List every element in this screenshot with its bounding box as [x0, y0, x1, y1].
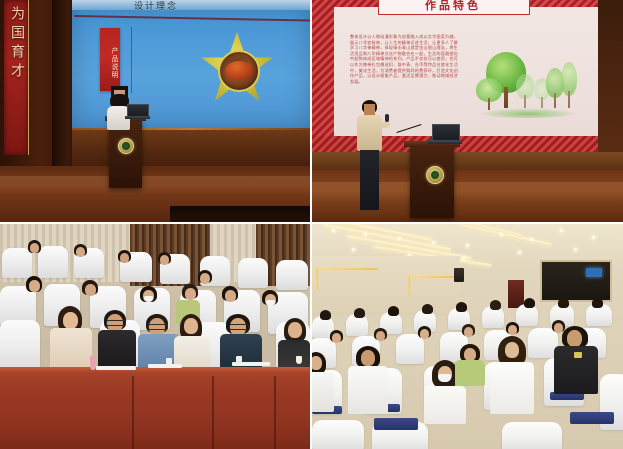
seat — [2, 248, 32, 278]
audience-head — [225, 290, 236, 302]
downlight — [398, 237, 401, 240]
tree-trunk — [568, 91, 569, 108]
seat-foreground — [312, 420, 364, 449]
audience-head — [85, 284, 96, 296]
watercolor-trees-illustration — [472, 48, 582, 126]
audience-hair — [490, 300, 501, 310]
collage-gutter-horizontal — [0, 222, 623, 224]
downlight — [560, 229, 563, 232]
face-mask-icon — [438, 374, 451, 382]
podium-emblem-icon — [118, 138, 134, 154]
foreground-shadow-bar — [170, 206, 310, 222]
tree-trunk — [554, 93, 555, 108]
glasses-icon — [229, 324, 249, 330]
projection-booth-window — [540, 260, 612, 302]
audience-head — [160, 255, 169, 265]
seat-cushion — [374, 418, 418, 430]
tree-trunk — [504, 87, 507, 108]
wall-accent-light — [408, 276, 458, 278]
audience-head — [376, 331, 385, 341]
audience-hair — [524, 298, 535, 308]
downlight — [332, 229, 335, 232]
presenter-torso — [357, 115, 382, 151]
downlight — [432, 241, 435, 244]
wall-accent-light — [408, 276, 410, 296]
paper-cup — [166, 358, 172, 366]
student-head — [361, 350, 375, 366]
slide-side-tag-text: 产品说明 — [100, 28, 120, 91]
audience-head — [464, 327, 473, 337]
downlight — [352, 248, 355, 251]
water-bottle — [90, 356, 96, 370]
badge-icon — [574, 352, 582, 358]
laptop-base — [125, 116, 150, 119]
star-emblem-icon — [200, 32, 274, 106]
downlight — [530, 238, 533, 241]
wall-banner-text: 为国育才 — [4, 6, 28, 82]
paper-cup — [236, 356, 242, 364]
table-panel-seam — [132, 376, 134, 449]
judge-head — [288, 322, 302, 338]
audience-head — [76, 247, 85, 257]
judge-head — [63, 312, 78, 329]
audience-hair — [592, 298, 603, 308]
seat — [0, 320, 40, 372]
audience-hair — [388, 306, 399, 316]
table-paper — [96, 366, 136, 370]
laptop-base — [428, 140, 462, 144]
downlight — [364, 233, 367, 236]
presenter-female — [104, 86, 134, 144]
floor-reflection — [0, 176, 310, 196]
judges-table — [0, 372, 310, 449]
student-torso — [424, 386, 466, 424]
slide-side-tag: 产品说明 — [100, 28, 120, 91]
judge-head — [184, 318, 198, 334]
slide-title-work-features: 作品特色 — [378, 0, 528, 13]
audience-head — [29, 280, 40, 292]
side-wall-left — [312, 256, 460, 316]
student-torso-green — [455, 360, 485, 386]
downlight — [466, 244, 469, 247]
wall-speaker — [454, 268, 464, 282]
photo-panel-bottom-left — [0, 224, 310, 449]
audience-head — [554, 323, 563, 333]
audience-hair — [558, 298, 569, 308]
student-torso — [490, 362, 534, 414]
podium-emblem-icon — [426, 166, 444, 184]
wall-accent-light — [316, 268, 318, 290]
downlight — [592, 236, 595, 239]
emblem-center-medallion — [218, 50, 260, 92]
paper-cup — [296, 356, 302, 364]
tree-trunk — [541, 97, 542, 108]
seat — [238, 258, 268, 288]
audience-head — [508, 325, 517, 335]
seat — [396, 334, 424, 364]
audience-hair — [456, 302, 467, 312]
tree-right-tall — [561, 62, 577, 108]
audience-head — [120, 253, 129, 263]
downlight — [518, 251, 521, 254]
tree-trunk — [524, 95, 525, 108]
collage-gutter-vertical — [310, 0, 312, 449]
audience-head — [185, 288, 196, 300]
booth-monitor-glow — [586, 268, 602, 277]
audience-head — [332, 333, 341, 343]
downlight — [574, 248, 577, 251]
photo-panel-top-left: 为国育才 设计理念 产品说明 — [0, 0, 310, 222]
student-torso — [348, 366, 388, 414]
audience-head — [200, 273, 210, 284]
glasses-icon — [148, 324, 168, 330]
tree-trunk — [488, 98, 490, 110]
seat-foreground — [502, 422, 562, 449]
audience-hair — [354, 308, 365, 318]
seat-cushion — [570, 412, 614, 424]
tree-faint-a — [516, 74, 534, 108]
downlight — [462, 257, 465, 260]
table-panel-seam — [212, 376, 214, 449]
audience-hair — [422, 304, 433, 314]
slide-border-left — [312, 0, 334, 152]
photo-panel-bottom-right — [312, 224, 623, 449]
audience-hair — [320, 310, 331, 320]
student-torso — [312, 372, 334, 412]
tree-small-left — [476, 78, 502, 110]
downlight — [500, 233, 503, 236]
slide-vertical-line — [131, 27, 132, 93]
wall-accent-light — [318, 268, 378, 270]
table-paper — [148, 364, 182, 368]
slide-title-design-concept: 设计理念 — [96, 0, 216, 12]
presenter-legs — [360, 150, 379, 210]
wall-banner: 为国育才 — [4, 0, 29, 155]
photo-panel-top-right: 作品特色 整体设计以人物动漫形象为创意融入成以文字图案为辅，展示八华农秘神，让人… — [312, 0, 623, 222]
microphone-icon — [385, 114, 389, 122]
audience-head — [30, 243, 39, 253]
audience-head — [420, 329, 429, 339]
presenter-male — [352, 100, 398, 218]
table-panel-seam — [274, 376, 276, 449]
glasses-icon — [106, 320, 126, 326]
student-head — [312, 356, 322, 370]
seat — [276, 260, 308, 290]
photo-collage: 为国育才 设计理念 产品说明 — [0, 0, 623, 449]
seat — [38, 246, 68, 278]
student-head — [505, 342, 519, 358]
presenter-arm — [378, 121, 391, 129]
student-head — [567, 330, 582, 347]
